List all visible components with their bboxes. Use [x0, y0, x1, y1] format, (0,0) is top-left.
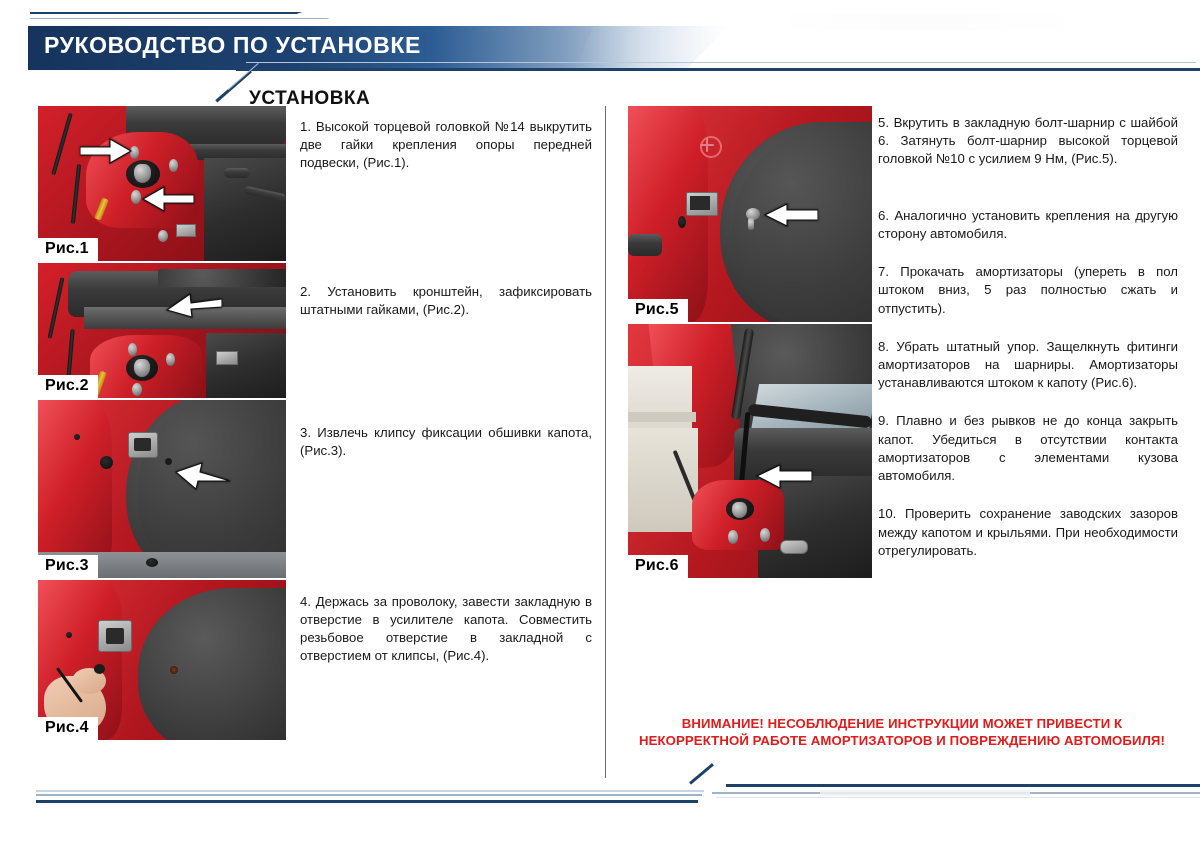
- warning-notice: ВНИМАНИЕ! НЕСОБЛЮДЕНИЕ ИНСТРУКЦИИ МОЖЕТ …: [628, 716, 1176, 750]
- figure-2-arrow: [166, 291, 222, 318]
- header-accent-stripe-top-thin: [30, 18, 330, 27]
- footer-rule-right-primary: [726, 784, 1200, 787]
- figure-4: Рис.4: [38, 580, 286, 740]
- figure-5: Рис.5: [628, 106, 872, 322]
- page-header: РУКОВОДСТВО ПО УСТАНОВКЕ: [0, 0, 1200, 90]
- page-footer: [0, 770, 1200, 849]
- left-figure-stack: Рис.1: [38, 106, 286, 740]
- figure-2: Рис.2: [38, 263, 286, 398]
- figure-6-caption: Рис.6: [628, 555, 688, 578]
- figure-1-caption: Рис.1: [38, 238, 98, 261]
- figure-6-arrow: [756, 464, 812, 489]
- figure-5-photo: [628, 106, 872, 322]
- step-9: 9. Плавно и без рывков не до конца закры…: [878, 412, 1178, 485]
- right-column: Рис.5: [606, 106, 1200, 786]
- figure-3: Рис.3: [38, 400, 286, 578]
- step-5: 5. Вкрутить в закладную болт-шарнир с ша…: [878, 114, 1178, 169]
- figure-1-arrow-lower: [142, 186, 194, 212]
- left-column: Рис.1: [0, 106, 605, 786]
- figure-3-arrow: [174, 462, 230, 490]
- figure-6-photo: [628, 324, 872, 578]
- right-steps: 5. Вкрутить в закладную болт-шарнир с ша…: [878, 106, 1178, 560]
- step-2: 2. Установить кронштейн, зафиксировать ш…: [300, 283, 592, 319]
- figure-3-photo: [38, 400, 286, 578]
- manual-page: РУКОВОДСТВО ПО УСТАНОВКЕ УСТАНОВКА: [0, 0, 1200, 849]
- header-title: РУКОВОДСТВО ПО УСТАНОВКЕ: [44, 32, 421, 59]
- footer-rule-left-primary: [36, 800, 698, 803]
- header-rule-primary: [236, 68, 1200, 71]
- figure-3-caption: Рис.3: [38, 555, 98, 578]
- right-figure-stack: Рис.5: [628, 106, 872, 578]
- figure-5-arrow: [764, 203, 818, 227]
- header-banner-gloss: [575, 22, 740, 72]
- footer-watermark: [820, 790, 1030, 796]
- header-watermark: [790, 14, 1080, 30]
- figure-2-caption: Рис.2: [38, 375, 98, 398]
- step-7: 7. Прокачать амортизаторы (упереть в пол…: [878, 263, 1178, 318]
- header-rule-secondary: [246, 62, 1196, 63]
- step-3: 3. Извлечь клипсу фиксации обшивки капот…: [300, 424, 592, 460]
- header-diagonal-connector: [215, 70, 252, 102]
- left-steps: 1. Высокой торцевой головкой №14 выкрути…: [300, 106, 592, 665]
- step-4: 4. Держась за проволоку, завести закладн…: [300, 593, 592, 666]
- figure-1: Рис.1: [38, 106, 286, 261]
- step-1: 1. Высокой торцевой головкой №14 выкрути…: [300, 118, 592, 173]
- footer-rule-left-mid: [36, 794, 702, 796]
- step-8: 8. Убрать штатный упор. Защелкнуть фитин…: [878, 338, 1178, 393]
- figure-4-caption: Рис.4: [38, 717, 98, 740]
- step-10: 10. Проверить сохранение заводских зазор…: [878, 505, 1178, 560]
- figure-6: Рис.6: [628, 324, 872, 578]
- step-6: 6. Аналогично установить крепления на др…: [878, 207, 1178, 243]
- footer-rule-right-thin: [716, 797, 1200, 798]
- figure-1-arrow-upper: [80, 138, 132, 164]
- figure-5-caption: Рис.5: [628, 299, 688, 322]
- footer-rule-left-thin: [36, 790, 704, 792]
